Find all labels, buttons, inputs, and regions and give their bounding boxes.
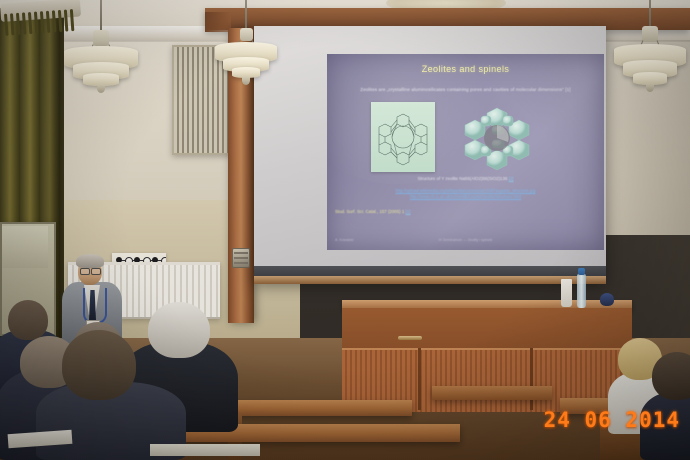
camera-date-stamp: 24 06 2014 — [544, 408, 680, 432]
slide-source-links[interactable]: http://upload.wikimedia.org/wikipedia/co… — [327, 188, 604, 201]
figure-caption-formula: 56(AlO2)56(SiO2)136 — [465, 176, 507, 181]
slide-reference: Stud. Surf. Sci. Catal., 157 (2005) 1 [1… — [335, 209, 595, 214]
cage-svg — [461, 102, 533, 172]
bench-row-right — [432, 386, 552, 400]
cabinet-panel — [2, 226, 48, 268]
speaker-lanyard — [83, 288, 107, 324]
slide-title: Zeolites and spinels — [327, 64, 604, 74]
bottle-cap — [578, 268, 585, 275]
attendee-right-man-head — [652, 352, 690, 400]
pendant-lamp-left — [62, 0, 140, 84]
desk-upper-panel — [342, 308, 632, 352]
zeolite-framework-wireframe — [371, 102, 435, 172]
slide-footer-event: IX Seminarium — Zeolity i spinele — [327, 238, 604, 242]
framework-svg — [371, 102, 435, 172]
reference-link[interactable]: [1] — [406, 209, 411, 214]
figure-caption-text: Structure of Y zeolite Na — [417, 176, 464, 181]
attendee-back-left-head — [8, 300, 48, 340]
speaker-glasses — [80, 268, 100, 273]
attendee-front-center-head — [62, 330, 136, 400]
water-bottle — [577, 274, 586, 308]
pendant-lamp-center — [210, 0, 282, 80]
slide-subtitle: Zeolites are „crystalline aluminosilicat… — [333, 87, 598, 92]
bench-row-mid — [222, 400, 412, 416]
desk-handle — [398, 336, 422, 340]
speaker-hair — [76, 254, 104, 268]
figure-caption: Structure of Y zeolite Na56(AlO2)56(SiO2… — [327, 176, 604, 181]
reference-text: Stud. Surf. Sci. Catal., 157 (2005) 1 — [335, 209, 404, 214]
door-hinge — [232, 248, 250, 268]
paper-sheet-2 — [150, 444, 260, 456]
figure-caption-link[interactable]: [2] — [509, 176, 514, 181]
screen-bottom-lip — [254, 276, 606, 284]
projection-screen: Zeolites and spinels Zeolites are „cryst… — [254, 26, 606, 282]
desk-divider-1 — [418, 348, 421, 410]
desk-divider-2 — [530, 348, 533, 410]
source-link-2[interactable]: http://www.ch.ic.ac.uk/vchemlib/course/z… — [327, 194, 604, 200]
lecture-hall-photo: Zeolites and spinels Zeolites are „cryst… — [0, 0, 690, 460]
paper-cup — [561, 279, 572, 307]
pendant-lamp-right — [612, 0, 688, 88]
projected-slide: Zeolites and spinels Zeolites are „cryst… — [327, 54, 604, 250]
desk-blue-object — [600, 293, 614, 306]
attendee-mid-center-head — [148, 302, 210, 358]
zeolite-cage-spacefill — [461, 102, 533, 172]
